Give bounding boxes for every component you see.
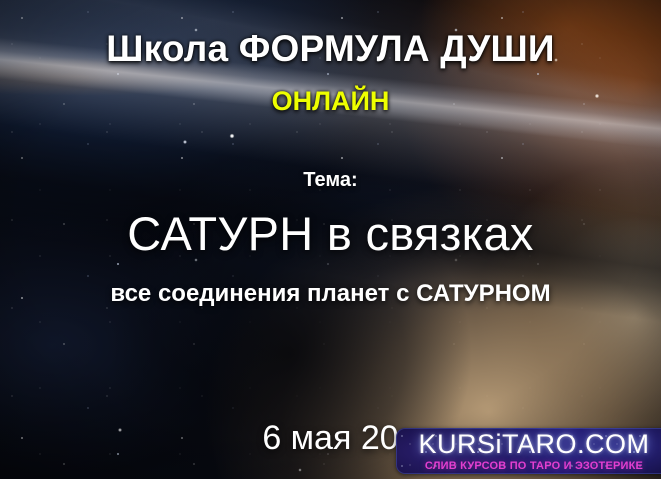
main-heading: САТУРН в связках [0,206,661,261]
presentation-slide: Школа ФОРМУЛА ДУШИ ОНЛАЙН Тема: САТУРН в… [0,0,661,479]
school-title: Школа ФОРМУЛА ДУШИ [0,28,661,70]
sub-heading: все соединения планет с САТУРНОМ [0,280,661,308]
watermark-tagline: СЛИВ КУРСОВ ПО ТАРО И ЭЗОТЕРИКЕ [425,461,643,472]
online-badge: ОНЛАЙН [0,86,661,117]
watermark-content: KURSiTARO.COM СЛИВ КУРСОВ ПО ТАРО И ЭЗОТ… [396,428,661,474]
watermark-site-name: KURSiTARO.COM [418,431,649,458]
topic-label: Тема: [0,169,661,192]
slide-content: Школа ФОРМУЛА ДУШИ ОНЛАЙН Тема: САТУРН в… [0,0,661,479]
watermark-badge: KURSiTARO.COM СЛИВ КУРСОВ ПО ТАРО И ЭЗОТ… [396,428,661,474]
